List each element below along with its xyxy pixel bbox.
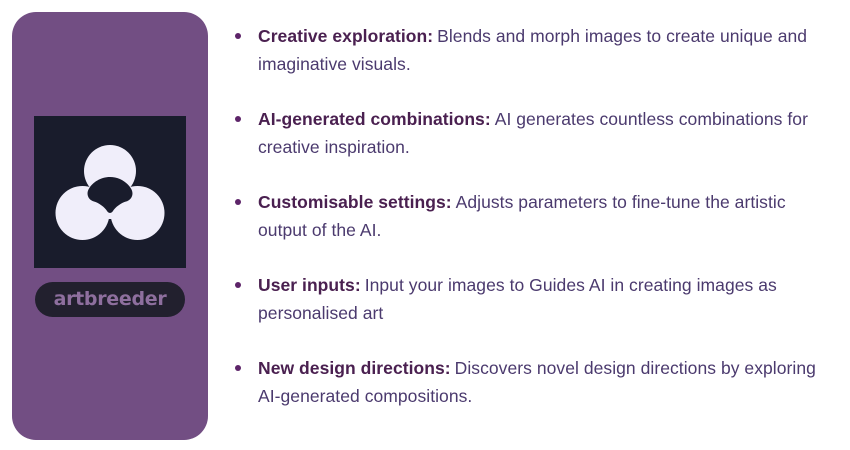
brand-logo-tile <box>34 116 186 268</box>
artbreeder-trefoil-logo-icon <box>51 133 169 251</box>
feature-list-container: Creative exploration:Blends and morph im… <box>232 22 832 428</box>
bullet-dot-icon <box>235 199 241 205</box>
list-item: AI-generated combinations:AI generates c… <box>232 105 832 161</box>
feature-title: AI-generated combinations: <box>258 109 491 129</box>
feature-title: New design directions: <box>258 358 451 378</box>
list-item: Customisable settings:Adjusts parameters… <box>232 188 832 244</box>
brand-name-label: artbreeder <box>54 290 167 309</box>
list-item: User inputs:Input your images to Guides … <box>232 271 832 327</box>
feature-card-page: artbreeder Creative exploration:Blends a… <box>0 0 850 450</box>
bullet-dot-icon <box>235 365 241 371</box>
list-item: New design directions:Discovers novel de… <box>232 354 832 410</box>
feature-bullet-list: Creative exploration:Blends and morph im… <box>232 22 832 410</box>
bullet-dot-icon <box>235 33 241 39</box>
feature-title: Customisable settings: <box>258 192 452 212</box>
feature-title: Creative exploration: <box>258 26 433 46</box>
brand-panel: artbreeder <box>12 12 208 440</box>
bullet-dot-icon <box>235 282 241 288</box>
list-item: Creative exploration:Blends and morph im… <box>232 22 832 78</box>
feature-title: User inputs: <box>258 275 361 295</box>
bullet-dot-icon <box>235 116 241 122</box>
brand-name-pill: artbreeder <box>35 282 185 317</box>
